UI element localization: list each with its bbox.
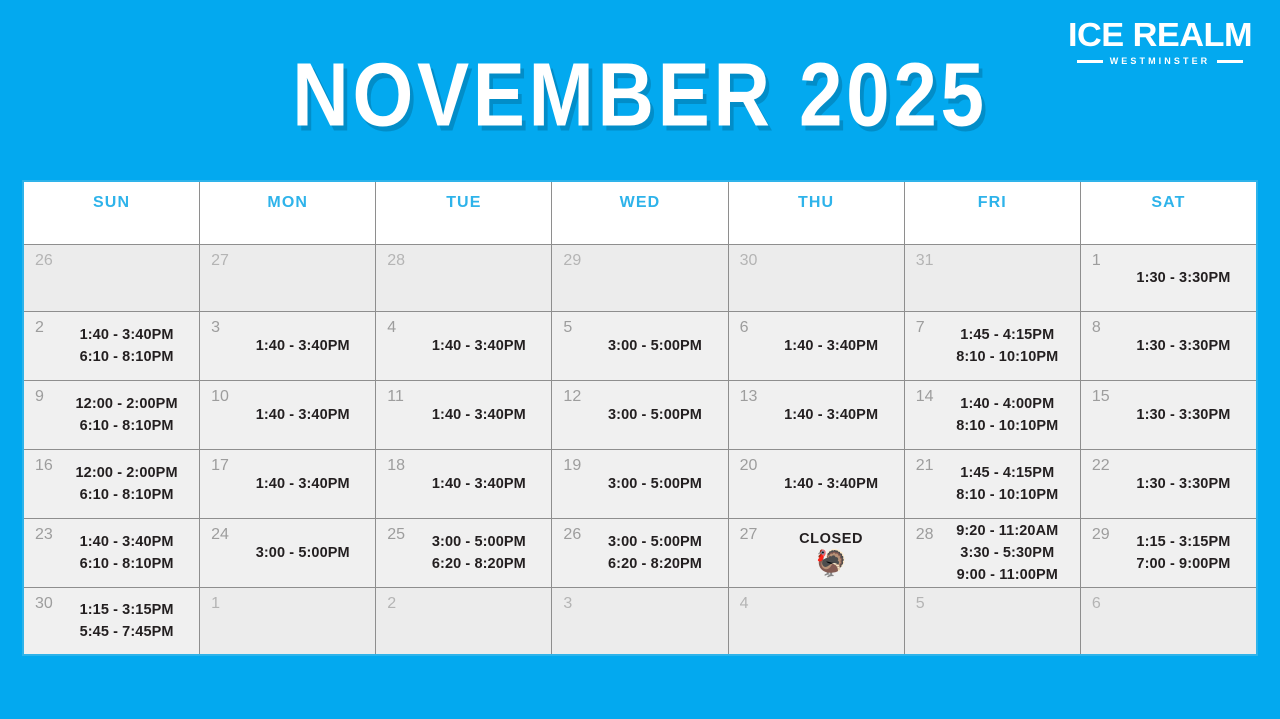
session-time: 1:40 - 4:00PM [941,393,1074,415]
calendar-day-cell[interactable]: 193:00 - 5:00PM [552,450,728,518]
session-list: 1:40 - 3:40PM [386,335,545,357]
day-number: 5 [563,319,572,336]
calendar-day-cell[interactable]: 289:20 - 11:20AM3:30 - 5:30PM9:00 - 11:0… [905,519,1081,587]
calendar-day-cell[interactable]: 3 [552,588,728,654]
session-list: 3:00 - 5:00PM [562,404,721,426]
day-number: 27 [211,252,229,269]
session-list: 1:40 - 3:40PM6:10 - 8:10PM [34,531,193,575]
page-title: NOVEMBER 2025 [51,47,1229,145]
calendar-week-row: 912:00 - 2:00PM6:10 - 8:10PM101:40 - 3:4… [24,380,1256,449]
day-number: 25 [387,526,405,543]
session-list: 3:00 - 5:00PM [562,335,721,357]
day-number: 29 [563,252,581,269]
session-time: 1:15 - 3:15PM [1117,531,1250,553]
day-header-wed: WED [552,182,728,244]
day-header-sun: SUN [24,182,200,244]
calendar-day-cell[interactable]: 131:40 - 3:40PM [729,381,905,449]
session-list: 12:00 - 2:00PM6:10 - 8:10PM [34,393,193,437]
session-time: 8:10 - 10:10PM [941,346,1074,368]
session-list: 1:40 - 3:40PM [210,335,369,357]
session-list: 3:00 - 5:00PM [210,542,369,564]
day-number: 3 [211,319,220,336]
calendar-day-cell[interactable]: 27CLOSED🦃 [729,519,905,587]
session-time: 3:30 - 5:30PM [941,542,1074,564]
session-time: 3:00 - 5:00PM [588,531,721,553]
day-number: 2 [387,595,396,612]
session-list: 1:45 - 4:15PM8:10 - 10:10PM [915,324,1074,368]
calendar-week-row: 1612:00 - 2:00PM6:10 - 8:10PM171:40 - 3:… [24,449,1256,518]
session-time: 5:45 - 7:45PM [60,621,193,643]
day-header-sat: SAT [1081,182,1256,244]
session-time: 1:40 - 3:40PM [765,473,898,495]
session-time: 7:00 - 9:00PM [1117,553,1250,575]
session-list: 1:40 - 3:40PM6:10 - 8:10PM [34,324,193,368]
day-number: 28 [387,252,405,269]
calendar-day-cell[interactable]: 5 [905,588,1081,654]
day-number: 26 [563,526,581,543]
calendar-header-row: SUNMONTUEWEDTHUFRISAT [24,182,1256,244]
calendar-day-cell[interactable]: 4 [729,588,905,654]
calendar-day-cell[interactable]: 201:40 - 3:40PM [729,450,905,518]
day-number: 29 [1092,526,1110,543]
session-list: 1:40 - 3:40PM [386,404,545,426]
session-time: 1:15 - 3:15PM [60,599,193,621]
day-number: 31 [916,252,934,269]
session-time: 6:10 - 8:10PM [60,346,193,368]
session-time: 9:20 - 11:20AM [941,520,1074,542]
calendar-day-cell[interactable]: 243:00 - 5:00PM [200,519,376,587]
day-number: 22 [1092,457,1110,474]
day-number: 14 [916,388,934,405]
session-time: 1:40 - 3:40PM [412,404,545,426]
calendar-day-cell[interactable]: 28 [376,245,552,311]
session-time: 9:00 - 11:00PM [941,564,1074,586]
session-list: CLOSED🦃 [739,529,898,577]
session-list: 1:40 - 3:40PM [739,473,898,495]
session-list: 1:30 - 3:30PM [1091,267,1250,289]
calendar-day-cell[interactable]: 26 [24,245,200,311]
session-time: 1:40 - 3:40PM [60,531,193,553]
calendar-page: ICE REALM WESTMINSTER NOVEMBER 2025 SUNM… [0,0,1280,719]
day-number: 3 [563,595,572,612]
day-number: 9 [35,388,44,405]
calendar-day-cell[interactable]: 301:15 - 3:15PM5:45 - 7:45PM [24,588,200,654]
calendar-day-cell[interactable]: 21:40 - 3:40PM6:10 - 8:10PM [24,312,200,380]
day-number: 2 [35,319,44,336]
day-header-tue: TUE [376,182,552,244]
session-time: 1:40 - 3:40PM [412,473,545,495]
closed-label: CLOSED [765,529,898,549]
calendar-day-cell[interactable]: 53:00 - 5:00PM [552,312,728,380]
session-list: 1:40 - 4:00PM8:10 - 10:10PM [915,393,1074,437]
day-number: 4 [740,595,749,612]
day-number: 5 [916,595,925,612]
calendar-day-cell[interactable]: 31:40 - 3:40PM [200,312,376,380]
day-number: 30 [35,595,53,612]
session-time: 1:30 - 3:30PM [1117,404,1250,426]
day-number: 19 [563,457,581,474]
session-time: 6:10 - 8:10PM [60,484,193,506]
session-list: 1:45 - 4:15PM8:10 - 10:10PM [915,462,1074,506]
session-time: 6:10 - 8:10PM [60,415,193,437]
calendar-day-cell[interactable]: 11:30 - 3:30PM [1081,245,1256,311]
session-time: 3:00 - 5:00PM [588,404,721,426]
calendar-day-cell[interactable]: 41:40 - 3:40PM [376,312,552,380]
calendar-day-cell[interactable]: 151:30 - 3:30PM [1081,381,1256,449]
calendar-day-cell[interactable]: 71:45 - 4:15PM8:10 - 10:10PM [905,312,1081,380]
day-number: 13 [740,388,758,405]
day-header-mon: MON [200,182,376,244]
day-number: 10 [211,388,229,405]
session-time: 1:40 - 3:40PM [765,335,898,357]
calendar-day-cell[interactable]: 2 [376,588,552,654]
calendar-day-cell[interactable]: 221:30 - 3:30PM [1081,450,1256,518]
calendar-day-cell[interactable]: 30 [729,245,905,311]
day-number: 12 [563,388,581,405]
calendar-day-cell[interactable]: 291:15 - 3:15PM7:00 - 9:00PM [1081,519,1256,587]
day-number: 18 [387,457,405,474]
calendar-day-cell[interactable]: 111:40 - 3:40PM [376,381,552,449]
day-number: 23 [35,526,53,543]
calendar-day-cell[interactable]: 231:40 - 3:40PM6:10 - 8:10PM [24,519,200,587]
session-time: 1:45 - 4:15PM [941,462,1074,484]
month-calendar: SUNMONTUEWEDTHUFRISAT 26272829303111:30 … [22,180,1258,656]
session-list: 1:40 - 3:40PM [739,335,898,357]
calendar-day-cell[interactable]: 61:40 - 3:40PM [729,312,905,380]
day-number: 8 [1092,319,1101,336]
calendar-week-row: 231:40 - 3:40PM6:10 - 8:10PM243:00 - 5:0… [24,518,1256,587]
calendar-day-cell[interactable]: 1 [200,588,376,654]
day-number: 21 [916,457,934,474]
session-time: 1:40 - 3:40PM [765,404,898,426]
session-time: 8:10 - 10:10PM [941,484,1074,506]
calendar-day-cell[interactable]: 1612:00 - 2:00PM6:10 - 8:10PM [24,450,200,518]
calendar-day-cell[interactable]: 912:00 - 2:00PM6:10 - 8:10PM [24,381,200,449]
day-number: 11 [387,388,404,405]
session-time: 3:00 - 5:00PM [236,542,369,564]
session-list: 1:40 - 3:40PM [386,473,545,495]
calendar-day-cell[interactable]: 27 [200,245,376,311]
day-number: 6 [740,319,749,336]
calendar-day-cell[interactable]: 253:00 - 5:00PM6:20 - 8:20PM [376,519,552,587]
session-list: 3:00 - 5:00PM6:20 - 8:20PM [562,531,721,575]
session-time: 6:10 - 8:10PM [60,553,193,575]
day-number: 30 [740,252,758,269]
day-number: 7 [916,319,925,336]
session-time: 6:20 - 8:20PM [412,553,545,575]
calendar-week-row: 26272829303111:30 - 3:30PM [24,244,1256,311]
calendar-weeks: 26272829303111:30 - 3:30PM21:40 - 3:40PM… [24,244,1256,654]
session-time: 8:10 - 10:10PM [941,415,1074,437]
calendar-day-cell[interactable]: 123:00 - 5:00PM [552,381,728,449]
calendar-week-row: 21:40 - 3:40PM6:10 - 8:10PM31:40 - 3:40P… [24,311,1256,380]
calendar-day-cell[interactable]: 81:30 - 3:30PM [1081,312,1256,380]
session-list: 3:00 - 5:00PM [562,473,721,495]
calendar-day-cell[interactable]: 6 [1081,588,1256,654]
day-number: 27 [740,526,758,543]
session-time: 1:40 - 3:40PM [236,335,369,357]
turkey-icon: 🦃 [765,549,898,577]
day-number: 1 [211,595,220,612]
day-number: 6 [1092,595,1101,612]
session-list: 3:00 - 5:00PM6:20 - 8:20PM [386,531,545,575]
day-number: 17 [211,457,229,474]
calendar-day-cell[interactable]: 171:40 - 3:40PM [200,450,376,518]
session-list: 1:30 - 3:30PM [1091,404,1250,426]
session-time: 1:30 - 3:30PM [1117,267,1250,289]
session-time: 1:45 - 4:15PM [941,324,1074,346]
calendar-week-row: 301:15 - 3:15PM5:45 - 7:45PM123456 [24,587,1256,654]
session-time: 1:40 - 3:40PM [236,404,369,426]
day-number: 4 [387,319,396,336]
day-number: 16 [35,457,53,474]
day-number: 20 [740,457,758,474]
session-list: 1:30 - 3:30PM [1091,335,1250,357]
session-time: 6:20 - 8:20PM [588,553,721,575]
session-time: 12:00 - 2:00PM [60,462,193,484]
session-time: 1:40 - 3:40PM [412,335,545,357]
session-list: 12:00 - 2:00PM6:10 - 8:10PM [34,462,193,506]
day-number: 15 [1092,388,1110,405]
day-number: 28 [916,526,934,543]
session-list: 1:15 - 3:15PM5:45 - 7:45PM [34,599,193,643]
calendar-day-cell[interactable]: 31 [905,245,1081,311]
session-list: 1:40 - 3:40PM [210,404,369,426]
session-time: 1:30 - 3:30PM [1117,473,1250,495]
calendar-day-cell[interactable]: 211:45 - 4:15PM8:10 - 10:10PM [905,450,1081,518]
day-number: 24 [211,526,229,543]
day-header-thu: THU [729,182,905,244]
session-list: 9:20 - 11:20AM3:30 - 5:30PM9:00 - 11:00P… [915,520,1074,586]
session-time: 3:00 - 5:00PM [588,473,721,495]
day-number: 1 [1092,252,1101,269]
calendar-day-cell[interactable]: 141:40 - 4:00PM8:10 - 10:10PM [905,381,1081,449]
session-time: 1:30 - 3:30PM [1117,335,1250,357]
calendar-day-cell[interactable]: 101:40 - 3:40PM [200,381,376,449]
calendar-day-cell[interactable]: 181:40 - 3:40PM [376,450,552,518]
session-list: 1:30 - 3:30PM [1091,473,1250,495]
session-time: 3:00 - 5:00PM [412,531,545,553]
session-time: 12:00 - 2:00PM [60,393,193,415]
calendar-day-cell[interactable]: 263:00 - 5:00PM6:20 - 8:20PM [552,519,728,587]
session-time: 1:40 - 3:40PM [60,324,193,346]
session-list: 1:40 - 3:40PM [739,404,898,426]
day-header-fri: FRI [905,182,1081,244]
calendar-day-cell[interactable]: 29 [552,245,728,311]
session-time: 1:40 - 3:40PM [236,473,369,495]
session-time: 3:00 - 5:00PM [588,335,721,357]
session-list: 1:15 - 3:15PM7:00 - 9:00PM [1091,531,1250,575]
day-number: 26 [35,252,53,269]
session-list: 1:40 - 3:40PM [210,473,369,495]
